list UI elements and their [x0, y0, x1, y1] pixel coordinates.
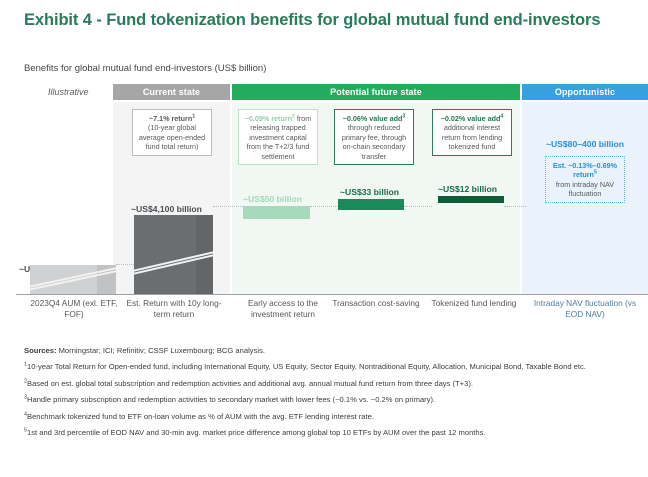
callout-tokenized-lending-lead: ~0.02% value add4 [437, 114, 507, 123]
connector-aum-to-return [116, 264, 134, 265]
x-label-opportunistic: Intraday NAV fluctuation (vs EOD NAV) [524, 298, 646, 320]
footnote-2-text: Based on est. global total subscription … [27, 379, 473, 388]
footnotes: Sources: Morningstar; ICI; Refinitiv; CS… [24, 346, 628, 444]
callout-current-return-lead: ~7.1% return1 [137, 114, 207, 123]
footnote-4: 4Benchmark tokenized fund to ETF on-loan… [24, 412, 628, 422]
x-label-early-access: Early access to the investment return [233, 298, 333, 320]
connector-return-to-early [213, 206, 243, 207]
bar-est-return [134, 215, 213, 294]
x-label-lending: Tokenized fund lending [428, 298, 520, 309]
header-opportunistic: Opportunistic [522, 84, 648, 100]
connector-transaction-to-lending [404, 206, 432, 207]
value-label-opportunistic: ~US$80–400 billion [531, 139, 639, 149]
page-title: Exhibit 4 - Fund tokenization benefits f… [24, 10, 624, 31]
callout-intraday-nav: Est. ~0.13%–0.69% return5 from intraday … [545, 156, 625, 203]
x-label-transaction: Transaction cost-saving [330, 298, 422, 309]
bar-tokenized-lending [438, 196, 504, 203]
footnote-4-text: Benchmark tokenized fund to ETF on-loan … [27, 412, 374, 421]
sources-line: Sources: Morningstar; ICI; Refinitiv; CS… [24, 346, 628, 356]
chart-area: Illustrative Current state Potential fut… [0, 84, 648, 340]
bar-transaction-cost [338, 199, 404, 210]
footnote-5-text: 1st and 3rd percentile of EOD NAV and 30… [27, 428, 486, 437]
footnote-3: 3Handle primary subscription and redempt… [24, 395, 628, 405]
callout-transaction-cost-lead: ~0.06% value add3 [339, 114, 409, 123]
callout-tokenized-lending-body: additional interest return from lending … [442, 123, 502, 151]
footnote-3-text: Handle primary subscription and redempti… [27, 395, 435, 404]
x-axis-line [16, 294, 648, 295]
footnote-5: 51st and 3rd percentile of EOD NAV and 3… [24, 428, 628, 438]
connector-early-to-transaction [310, 206, 338, 207]
callout-early-access-lead: ~0.09% return2 [245, 114, 295, 123]
callout-intraday-nav-body: from intraday NAV fluctuation [556, 180, 614, 198]
sources-label: Sources: [24, 346, 57, 355]
value-label-lending: ~US$12 billion [438, 184, 497, 194]
x-label-aum: 2023Q4 AUM (exl. ETF, FOF) [22, 298, 126, 320]
callout-early-access: ~0.09% return2 from releasing trapped in… [238, 109, 318, 165]
value-label-early-access: ~US$50 billion [243, 194, 302, 204]
connector-lending-to-opportunistic [504, 206, 526, 207]
callout-tokenized-lending: ~0.02% value add4 additional interest re… [432, 109, 512, 156]
x-label-est-return: Est. Return with 10y long-term return [122, 298, 226, 320]
footnote-2: 2Based on est. global total subscription… [24, 379, 628, 389]
callout-current-return-body: (10-year global average open-ended fund … [139, 123, 205, 151]
value-label-transaction: ~US$33 billion [340, 187, 399, 197]
sources-text: Morningstar; ICI; Refinitiv; CSSF Luxemb… [57, 346, 265, 355]
footnote-1-text: 10-year Total Return for Open-ended fund… [27, 362, 586, 371]
callout-transaction-cost-body: through reduced primary fee, through on-… [342, 123, 406, 160]
callout-current-return: ~7.1% return1 (10-year global average op… [132, 109, 212, 156]
callout-intraday-nav-lead: Est. ~0.13%–0.69% return5 [550, 161, 620, 180]
callout-transaction-cost: ~0.06% value add3 through reduced primar… [334, 109, 414, 165]
header-potential-future-state: Potential future state [232, 84, 520, 100]
illustrative-label: Illustrative [48, 84, 89, 100]
bar-aum [30, 265, 116, 294]
footnote-1: 110-year Total Return for Open-ended fun… [24, 362, 628, 372]
header-current-state: Current state [113, 84, 230, 100]
value-label-est-return: ~US$4,100 billion [131, 204, 202, 214]
bar-early-access [243, 206, 310, 219]
chart-subtitle: Benefits for global mutual fund end-inve… [24, 63, 266, 74]
